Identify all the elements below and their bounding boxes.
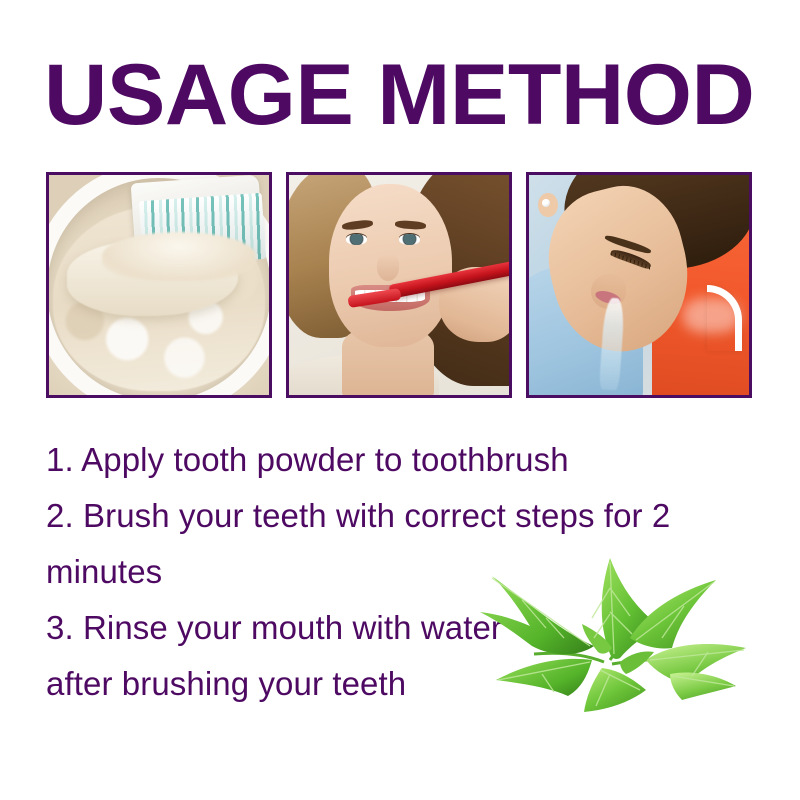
step-line-4: 3. Rinse your mouth with water <box>46 600 756 656</box>
step-line-3: minutes <box>46 544 756 600</box>
photo-strip <box>46 172 752 398</box>
nose <box>377 254 399 280</box>
powder-foreground <box>102 232 256 280</box>
photo-tooth-powder-with-brush <box>46 172 272 398</box>
eye-left <box>346 234 367 244</box>
eye-right <box>399 234 420 244</box>
step-line-2: 2. Brush your teeth with correct steps f… <box>46 488 756 544</box>
usage-steps-list: 1. Apply tooth powder to toothbrush 2. B… <box>46 432 756 712</box>
photo-woman-rinsing-mouth <box>526 172 752 398</box>
photo-1-image <box>49 175 269 395</box>
earring <box>542 199 550 207</box>
page-title: USAGE METHOD <box>44 52 770 138</box>
step-line-5: after brushing your teeth <box>46 656 756 712</box>
photo-woman-brushing-teeth <box>286 172 512 398</box>
step-line-1: 1. Apply tooth powder to toothbrush <box>46 432 756 488</box>
photo-3-image <box>529 175 749 395</box>
photo-2-image <box>289 175 509 395</box>
